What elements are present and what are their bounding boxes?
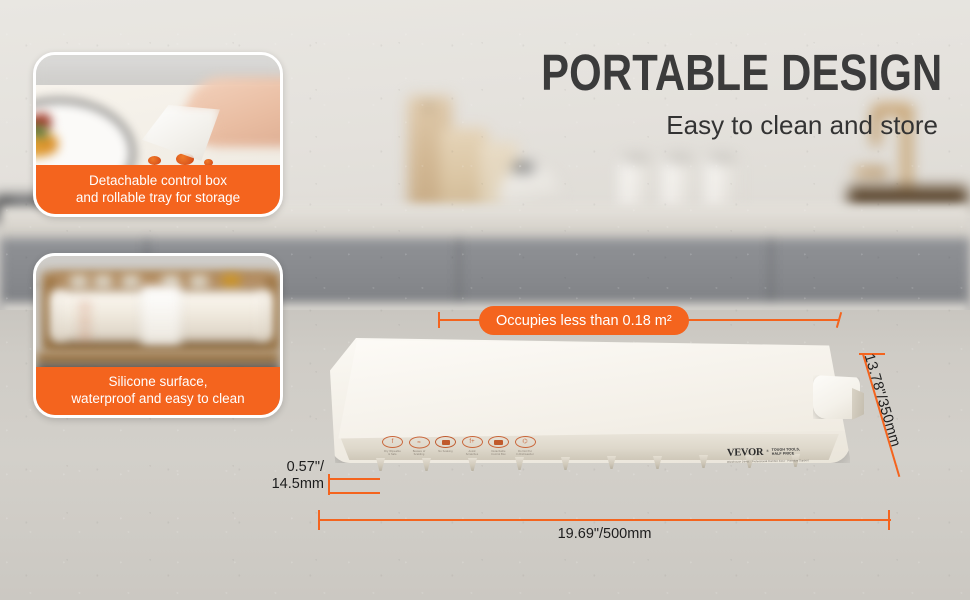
canister-3 xyxy=(706,160,738,210)
width-dimension-line xyxy=(318,519,891,521)
teapot xyxy=(498,168,560,210)
caption-line-1: Detachable control box xyxy=(42,172,274,190)
panel-icon-no-dishwasher: ⌬ Do Not PutIn Dishwasher xyxy=(515,436,536,457)
panel-icon-no-rinse: ≈ Beware ofScalding xyxy=(409,436,430,457)
feature-card-silicone-surface[interactable]: Silicone surface, waterproof and easy to… xyxy=(33,253,283,418)
panel-icon-dry-wipe: f Dry Wipeable& Safe xyxy=(382,436,403,457)
caption-line-2: and rollable tray for storage xyxy=(42,189,274,207)
brand-trademark: ® xyxy=(766,449,769,453)
no-immerse-icon xyxy=(442,440,450,445)
feature-card-caption: Silicone surface, waterproof and easy to… xyxy=(36,367,280,415)
teapot-lid xyxy=(512,163,534,172)
panel-icon-no-fold: DetachableControl Box xyxy=(488,436,509,457)
thickness-tick xyxy=(328,474,330,495)
thickness-label: 0.57"/ 14.5mm xyxy=(248,459,324,493)
page-title: PORTABLE DESIGN xyxy=(541,47,942,98)
product-infographic: PORTABLE DESIGN Easy to clean and store … xyxy=(0,0,970,600)
no-dishwasher-icon: ⌬ xyxy=(522,439,527,445)
panel-icon-heat-resistant: f+ AvoidScratches xyxy=(462,436,483,457)
page-subtitle: Easy to clean and store xyxy=(666,112,938,138)
no-rinse-icon: ≈ xyxy=(417,440,420,446)
heat-resistant-icon: f+ xyxy=(469,439,474,445)
brand-wordmark: VEVOR xyxy=(727,448,763,459)
caption-line-1: Silicone surface, xyxy=(42,373,274,391)
feature-card-detachable-control-box[interactable]: Detachable control box and rollable tray… xyxy=(33,52,283,217)
footprint-badge: Occupies less than 0.18 m² xyxy=(479,306,689,335)
faucet-handle xyxy=(854,168,888,176)
product-warming-tray xyxy=(330,338,850,498)
thickness-line-bottom xyxy=(328,492,380,494)
canister-2 xyxy=(663,160,695,210)
footprint-tick-left xyxy=(438,312,440,328)
care-instruction-icons: f Dry Wipeable& Safe ≈ Beware ofScalding… xyxy=(382,436,536,457)
dry-wipe-icon: f xyxy=(392,439,394,445)
storage-strap xyxy=(141,286,181,346)
no-fold-icon xyxy=(494,440,503,445)
panel-icon-no-immerse: No Soaking xyxy=(435,436,456,457)
feature-card-caption: Detachable control box and rollable tray… xyxy=(36,165,280,214)
canister-1 xyxy=(620,160,652,210)
caption-line-2: waterproof and easy to clean xyxy=(42,390,274,408)
brand-tagline: TOUGH TOOLS, HALF PRICE xyxy=(772,447,801,457)
thickness-line-top xyxy=(328,478,380,480)
brand-logo: VEVOR ® TOUGH TOOLS, HALF PRICE xyxy=(727,447,800,459)
width-label: 19.69"/500mm xyxy=(318,526,891,542)
